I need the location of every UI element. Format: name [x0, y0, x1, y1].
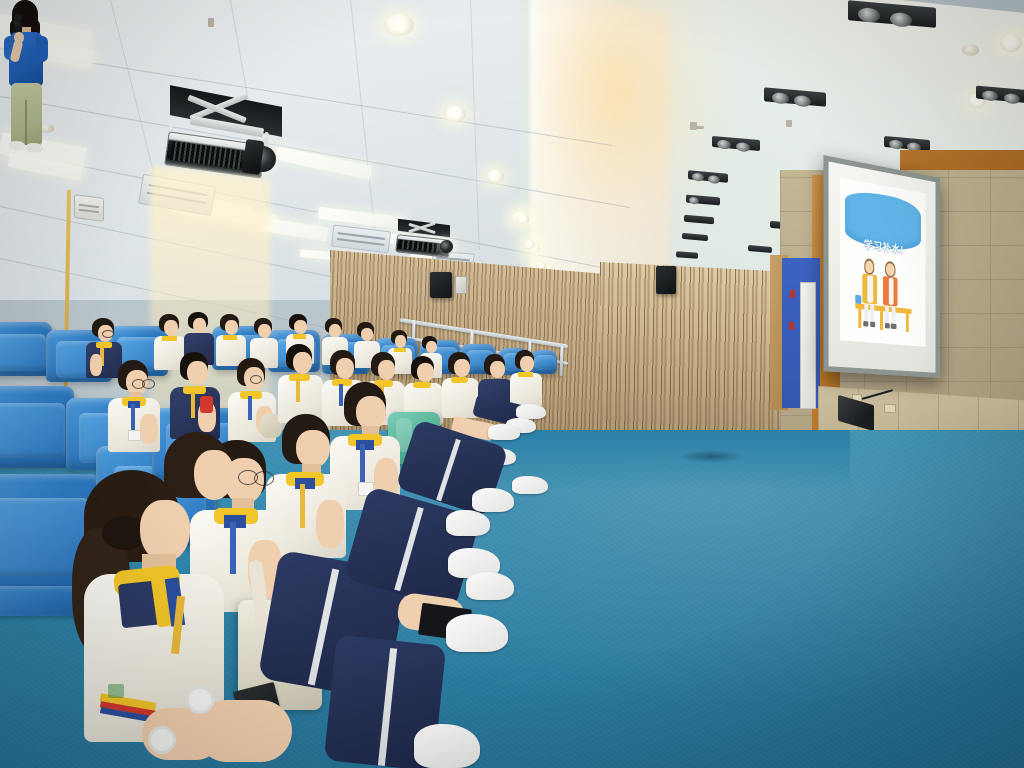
presenter-hand [14, 32, 24, 43]
presenter-shadow [678, 450, 744, 463]
projector-vent-grille [399, 240, 438, 253]
student-shoe [472, 488, 514, 512]
microphone-head-icon [14, 14, 22, 22]
illus-student-shoe [885, 323, 890, 329]
student-foreground-second [130, 432, 250, 632]
wall-speaker [656, 266, 676, 294]
downlight [524, 240, 535, 249]
student-row-mid [170, 352, 226, 444]
illus-desk-leg [906, 313, 909, 332]
illus-student-leg [870, 304, 874, 323]
student-shoe [488, 424, 520, 440]
auditorium-photo: 学习补水! [0, 0, 1024, 768]
projection-screen: 学习补水! [823, 155, 940, 378]
wrist-band [148, 726, 176, 754]
illus-student-shirt [889, 278, 894, 305]
illus-student-leg [891, 306, 895, 325]
whiteboard [800, 282, 816, 409]
wall-sign [790, 290, 795, 298]
sprinkler-icon [690, 126, 704, 129]
smoke-detector-icon [962, 44, 979, 56]
presentation-slide: 学习补水! [840, 178, 925, 347]
downlight [486, 170, 504, 183]
illus-water-cup [856, 295, 862, 304]
back-curtains-right [600, 262, 790, 457]
wall-sign [789, 322, 794, 330]
sprinkler-icon [786, 120, 792, 127]
track-lamp-icon [689, 197, 699, 205]
presenter-shoe-right [26, 143, 43, 152]
downlight [1000, 34, 1022, 52]
wall-mounted-device [74, 194, 104, 222]
seat-backpad [0, 334, 46, 371]
presenter-pants-seam [25, 100, 27, 145]
projector-vent-grille [170, 141, 243, 169]
student-shoe [516, 404, 546, 419]
illus-student-shoe [863, 321, 868, 327]
student-shoe [446, 510, 490, 536]
wall-outlet [884, 404, 896, 414]
red-object [200, 396, 213, 413]
projector-lens-icon [440, 240, 453, 253]
screen-surface: 学习补水! [829, 162, 936, 373]
sprinkler-icon [208, 18, 214, 27]
student-shoe [512, 476, 548, 494]
lens-flare-glare [540, 0, 730, 270]
slide-illustration [854, 255, 912, 334]
wall-speaker [430, 272, 452, 298]
wrist-band [186, 686, 214, 714]
smoke-detector-icon [40, 124, 54, 133]
illus-student-head [886, 263, 894, 276]
student-shoe [446, 614, 508, 652]
student-shoe [414, 724, 480, 768]
illus-student-leg [885, 305, 889, 324]
student-shoe [466, 572, 514, 600]
illus-desk-leg [858, 308, 861, 327]
illus-student-shoe [891, 323, 896, 329]
illus-desk-leg [880, 311, 883, 330]
presenter-sleeve-right [36, 36, 48, 62]
uniform-logo [108, 684, 124, 698]
wall-plate [455, 276, 467, 294]
downlight [384, 14, 414, 36]
illus-student-shirt [868, 276, 873, 303]
track-lamp-icon [858, 7, 880, 23]
downlight [516, 214, 529, 224]
illus-student-leg [864, 303, 868, 323]
presenter-shoe-left [9, 141, 25, 150]
illus-student-shoe [870, 321, 875, 327]
downlight [444, 106, 466, 122]
